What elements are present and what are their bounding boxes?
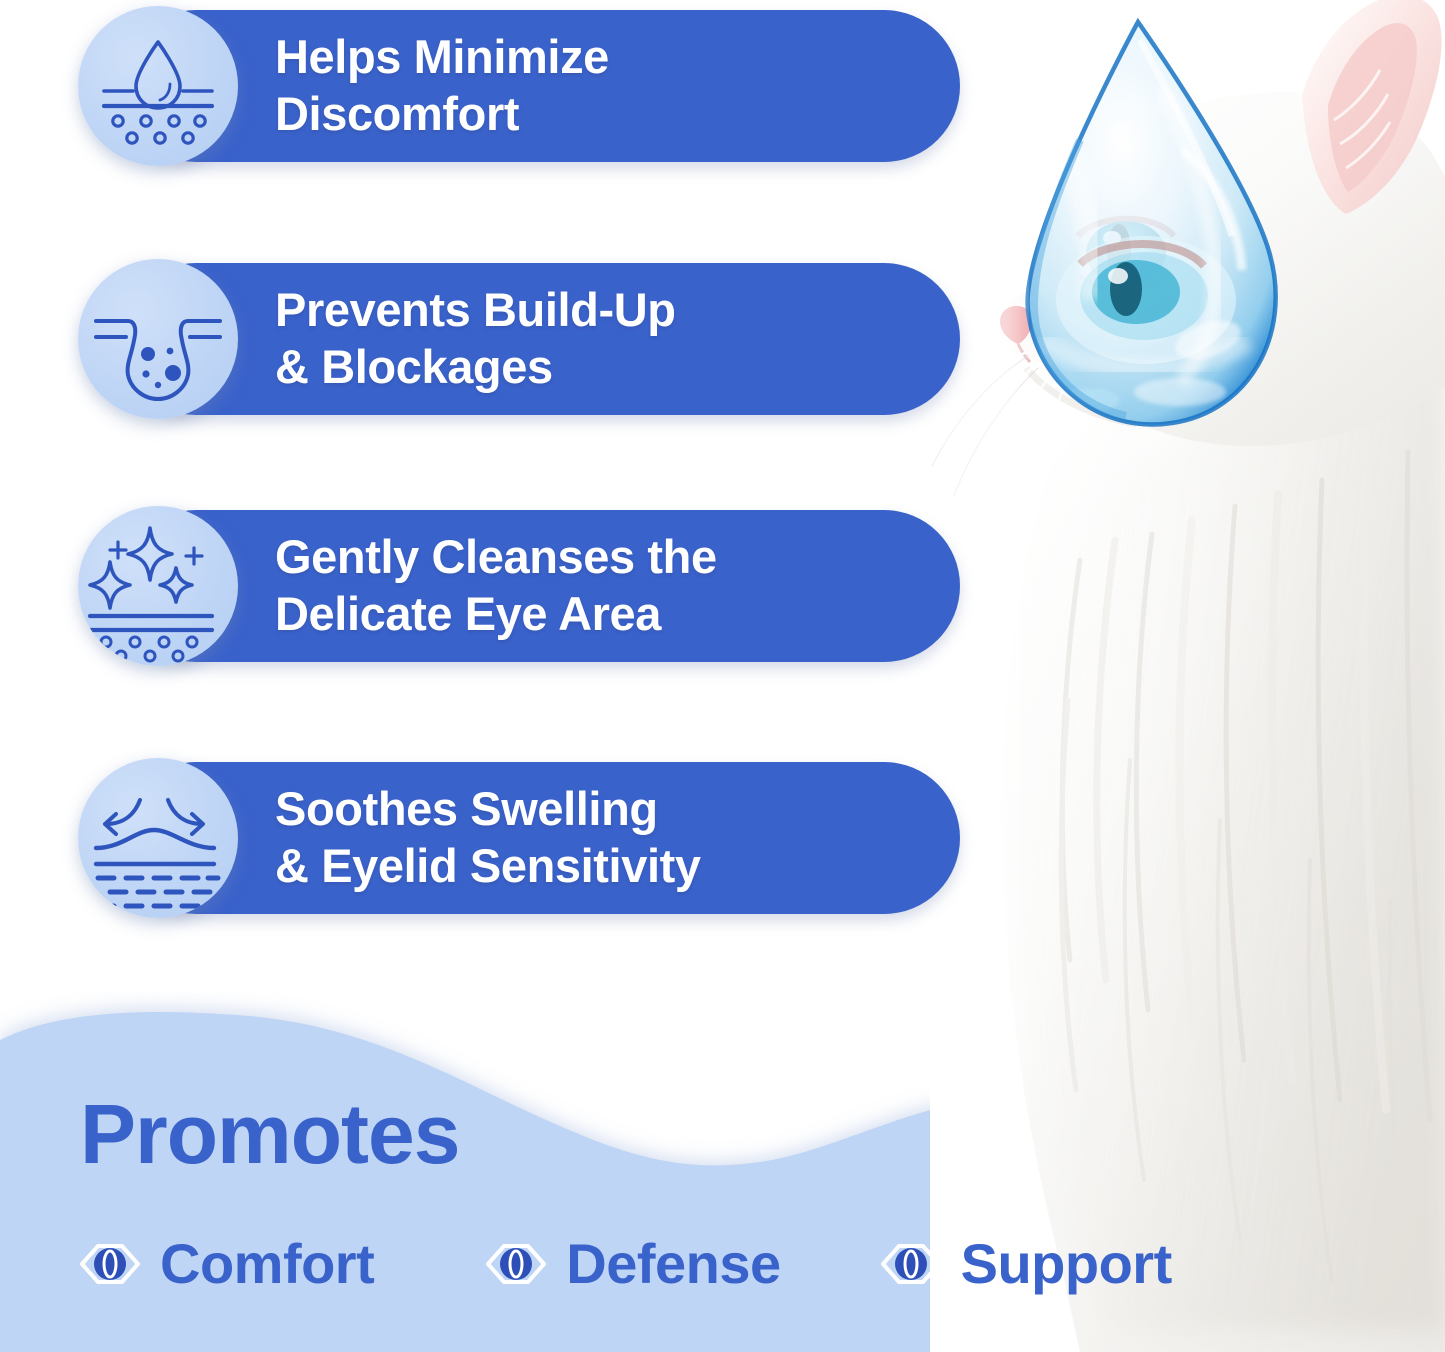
product-benefits-infographic: Helps Minimize Discomfort Prevents Bui [0,0,1445,1352]
cat-hero-image [930,0,1445,1352]
benefit-pill-label: Soothes Swelling & Eyelid Sensitivity [275,781,701,895]
droplet-over-skin-layers-icon [78,6,238,166]
sparkles-clean-skin-icon [78,506,238,666]
benefit-pill-gently-cleanses[interactable]: Gently Cleanses the Delicate Eye Area [120,510,960,662]
promote-item-comfort[interactable]: Comfort [78,1232,374,1296]
eye-icon [484,1232,548,1296]
cat-body [1002,308,1445,1352]
promote-item-label: Comfort [160,1236,374,1292]
promote-item-label: Defense [566,1236,780,1292]
soothing-arrows-skin-icon [78,758,238,918]
promote-item-support[interactable]: Support [879,1232,1172,1296]
promotes-items-row: Comfort Defense Support [78,1228,1348,1300]
benefit-pill-prevents-buildup[interactable]: Prevents Build-Up & Blockages [120,263,960,415]
clogged-pore-icon [78,259,238,419]
promote-item-defense[interactable]: Defense [484,1232,780,1296]
benefit-pill-soothes-swelling[interactable]: Soothes Swelling & Eyelid Sensitivity [120,762,960,914]
promotes-heading: Promotes [80,1092,459,1176]
benefit-pill-label: Prevents Build-Up & Blockages [275,282,676,396]
benefit-pill-label: Gently Cleanses the Delicate Eye Area [275,529,717,643]
eye-icon [78,1232,142,1296]
benefit-pill-label: Helps Minimize Discomfort [275,29,609,143]
benefit-pill-minimize-discomfort[interactable]: Helps Minimize Discomfort [120,10,960,162]
promote-item-label: Support [961,1236,1172,1292]
eye-icon [879,1232,943,1296]
